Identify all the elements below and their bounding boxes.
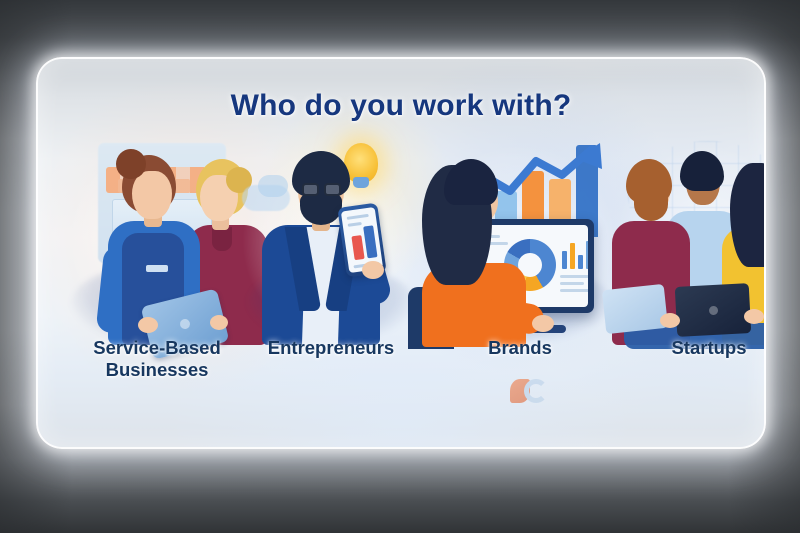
person-a-hand: [138, 317, 158, 333]
brand-person-hand: [532, 315, 554, 332]
label-entrepreneurs[interactable]: Entrepreneurs: [236, 337, 426, 359]
label-line-1: Entrepreneurs: [236, 337, 426, 359]
label-line-1: Startups: [614, 337, 766, 359]
label-service-based-businesses[interactable]: Service-Based Businesses: [62, 337, 252, 381]
lightbulb-base-icon: [353, 177, 369, 188]
entrepreneur-hair: [292, 151, 350, 197]
cloud-icon: [258, 175, 288, 197]
background-watermark: [38, 403, 764, 429]
startup-person-3-hair: [730, 163, 766, 267]
startup-person-3-hand: [744, 309, 764, 324]
person-a-face: [132, 171, 172, 219]
label-line-1: Service-Based: [62, 337, 252, 359]
audience-labels: Service-Based Businesses Entrepreneurs B…: [38, 337, 764, 397]
entrepreneur-hand: [362, 261, 384, 279]
laptop-light-icon: [602, 284, 668, 334]
mini-bar-chart: [562, 241, 588, 269]
laptop-dark-icon: [675, 283, 752, 337]
illustration-band: [38, 137, 764, 345]
label-startups[interactable]: Startups: [614, 337, 766, 359]
person-b-hand: [210, 315, 228, 330]
label-brands[interactable]: Brands: [420, 337, 620, 359]
illustration-startups[interactable]: [608, 137, 766, 345]
person-a-name-tag: [146, 265, 168, 272]
illustration-brands[interactable]: [416, 137, 624, 345]
label-line-1: Brands: [420, 337, 620, 359]
startup-person-1-hand: [660, 313, 680, 328]
person-a-hair-bun: [116, 149, 146, 179]
glasses-icon: [302, 183, 319, 196]
content-frame: Who do you work with?: [36, 57, 766, 449]
entrepreneur-beard: [300, 193, 342, 225]
illustration-entrepreneurs[interactable]: [236, 137, 426, 345]
person-b-collar: [212, 227, 232, 251]
label-line-2: Businesses: [62, 359, 252, 381]
page-title: Who do you work with?: [38, 89, 764, 123]
glasses-icon: [324, 183, 341, 196]
illustration-service-based-businesses[interactable]: [60, 137, 250, 345]
shop-box-icon: [174, 179, 190, 193]
